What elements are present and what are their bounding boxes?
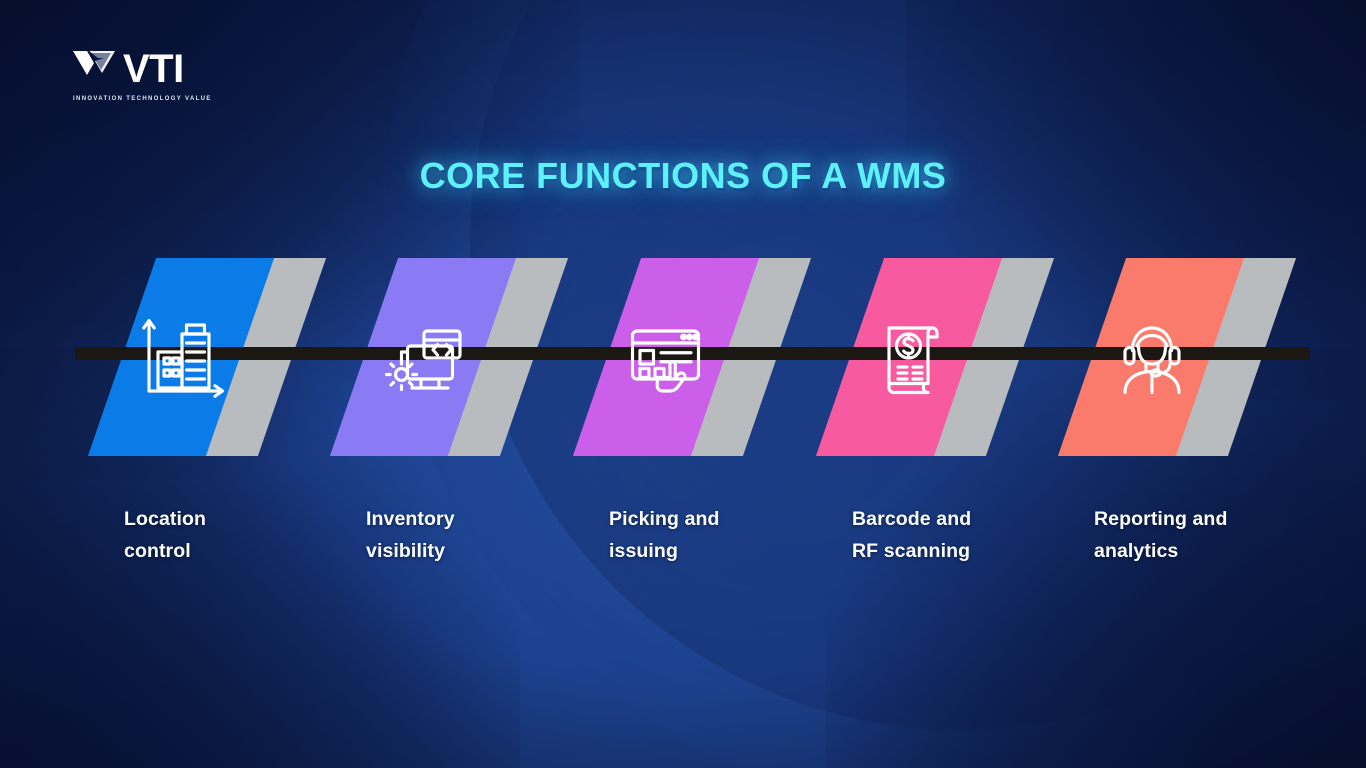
vti-logo: VTI INNOVATION TECHNOLOGY VALUE — [71, 45, 246, 103]
card-label-barcode-rf-scanning: Barcode and RF scanning — [852, 503, 1072, 567]
card-label-location-control: Location control — [124, 503, 344, 567]
slide-canvas: VTI INNOVATION TECHNOLOGY VALUE CORE FUN… — [0, 0, 1366, 768]
card-label-reporting-analytics: Reporting and analytics — [1094, 503, 1314, 567]
browser-click-hand-icon — [619, 310, 715, 406]
monitor-code-gear-icon — [376, 310, 472, 406]
building-chart-icon — [134, 310, 230, 406]
card-label-inventory-visibility: Inventory visibility — [366, 503, 586, 567]
card-label-picking-and-issuing: Picking and issuing — [609, 503, 829, 567]
logo-wordmark: VTI — [123, 49, 184, 89]
page-title: CORE FUNCTIONS OF A WMS — [0, 155, 1366, 197]
headset-agent-icon — [1104, 310, 1200, 406]
invoice-dollar-icon — [862, 310, 958, 406]
logo-tagline: INNOVATION TECHNOLOGY VALUE — [73, 96, 246, 102]
vti-triangle-mark-icon — [71, 45, 117, 92]
